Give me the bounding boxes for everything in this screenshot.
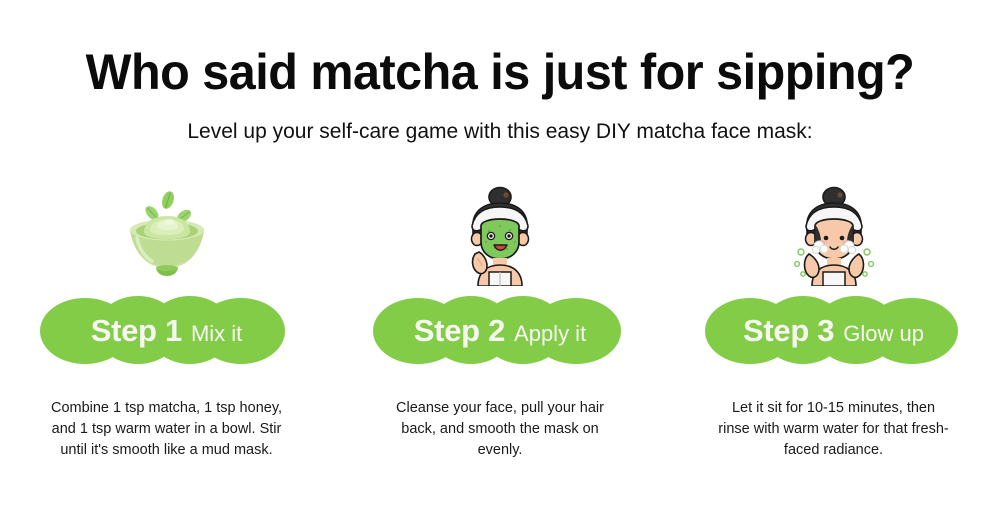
infographic-poster: Who said matcha is just for sipping? Lev… (0, 0, 1000, 520)
step-number-label: Step 1 (91, 313, 182, 349)
matcha-bowl-icon (112, 186, 222, 286)
washing-face-person-icon (779, 186, 889, 286)
step-badge-2: Step 2 Apply it (350, 292, 650, 372)
step-badge-label-1: Step 1 Mix it (91, 313, 243, 349)
steps-row: Step 1 Mix it Combine 1 tsp matcha, 1 ts… (0, 186, 1000, 461)
page-subtitle: Level up your self-care game with this e… (0, 119, 1000, 144)
step-tagline-label: Mix it (191, 321, 242, 347)
step-caption-2: Cleanse your face, pull your hair back, … (385, 398, 615, 461)
step-number-label: Step 2 (414, 313, 505, 349)
face-mask-person-icon (445, 186, 555, 286)
page-title: Who said matcha is just for sipping? (15, 46, 985, 99)
step-caption-3: Let it sit for 10-15 minutes, then rinse… (716, 398, 952, 461)
step-caption-1: Combine 1 tsp matcha, 1 tsp honey, and 1… (47, 398, 287, 461)
poster-header: Who said matcha is just for sipping? Lev… (0, 0, 1000, 144)
step-badge-label-3: Step 3 Glow up (743, 313, 924, 349)
step-tagline-label: Glow up (843, 321, 924, 347)
step-card-3: Step 3 Glow up Let it sit for 10-15 minu… (667, 186, 1000, 461)
step-number-label: Step 3 (743, 313, 834, 349)
step-badge-3: Step 3 Glow up (684, 292, 984, 372)
step-card-1: Step 1 Mix it Combine 1 tsp matcha, 1 ts… (0, 186, 333, 461)
step-tagline-label: Apply it (514, 321, 586, 347)
step-badge-1: Step 1 Mix it (17, 292, 317, 372)
step-badge-label-2: Step 2 Apply it (414, 313, 586, 349)
step-card-2: Step 2 Apply it Cleanse your face, pull … (334, 186, 667, 461)
